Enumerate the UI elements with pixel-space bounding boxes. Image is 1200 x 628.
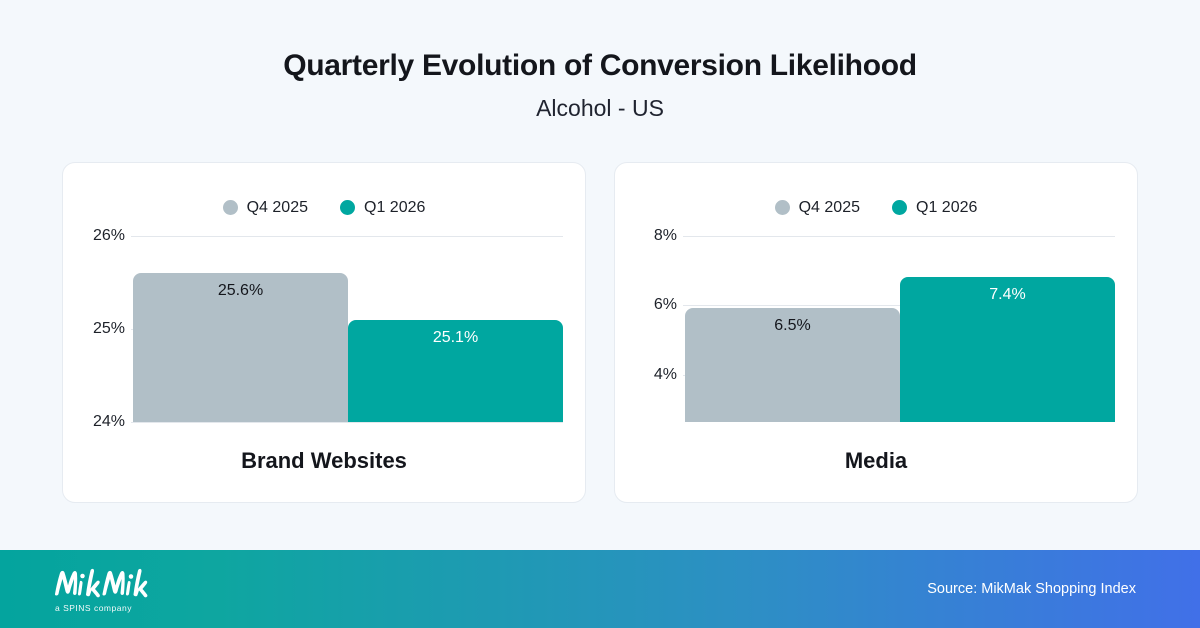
chart-card-brand-websites: Q4 2025 Q1 2026 26% 25%: [62, 162, 586, 503]
plot-area-media: 8% 6% 4% 6.5%: [637, 236, 1115, 422]
bar-slot-q1-2026: 25.1%: [348, 236, 563, 422]
logo-tagline: a SPINS company: [55, 603, 132, 613]
mikmak-wordmark-icon: [52, 566, 160, 602]
bar-slot-q4-2025: 25.6%: [133, 236, 348, 422]
legend-item-q1-2026[interactable]: Q1 2026: [340, 199, 425, 217]
bar-q4-2025[interactable]: 6.5%: [685, 308, 900, 422]
legend-dot-icon: [340, 200, 355, 215]
bar-slot-q1-2026: 7.4%: [900, 236, 1115, 422]
legend-dot-icon: [223, 200, 238, 215]
bar-q1-2026[interactable]: 25.1%: [348, 320, 563, 422]
legend-dot-icon: [775, 200, 790, 215]
legend-right: Q4 2025 Q1 2026: [615, 198, 1137, 218]
y-tick-label: 24%: [85, 412, 125, 432]
chart-card-media: Q4 2025 Q1 2026 8% 6%: [614, 162, 1138, 503]
bar-value-label: 25.6%: [133, 281, 348, 301]
source-label: Source: MikMak Shopping Index: [927, 581, 1136, 597]
bars-media: 6.5% 7.4%: [685, 236, 1115, 422]
chart-cards-row: Q4 2025 Q1 2026 26% 25%: [0, 123, 1200, 503]
legend-item-q4-2025[interactable]: Q4 2025: [223, 199, 308, 217]
y-tick-label: 6%: [637, 295, 677, 315]
legend-label: Q4 2025: [247, 199, 308, 217]
page-subtitle: Alcohol - US: [0, 95, 1200, 123]
infographic-page: Quarterly Evolution of Conversion Likeli…: [0, 0, 1200, 628]
y-tick-label: 25%: [85, 319, 125, 339]
plot-area-brand-websites: 26% 25% 24% 25.6%: [85, 236, 563, 422]
footer-bar: a SPINS company Source: MikMak Shopping …: [0, 550, 1200, 628]
legend-item-q1-2026[interactable]: Q1 2026: [892, 199, 977, 217]
bar-value-label: 6.5%: [685, 316, 900, 336]
y-tick-label: 8%: [637, 226, 677, 246]
legend-dot-icon: [892, 200, 907, 215]
bars-brand-websites: 25.6% 25.1%: [133, 236, 563, 422]
bar-q4-2025[interactable]: 25.6%: [133, 273, 348, 422]
legend-label: Q4 2025: [799, 199, 860, 217]
legend-label: Q1 2026: [364, 199, 425, 217]
legend-item-q4-2025[interactable]: Q4 2025: [775, 199, 860, 217]
header: Quarterly Evolution of Conversion Likeli…: [0, 0, 1200, 123]
chart-caption-brand-websites: Brand Websites: [63, 448, 585, 474]
page-title: Quarterly Evolution of Conversion Likeli…: [0, 48, 1200, 84]
bar-value-label: 25.1%: [348, 328, 563, 348]
bar-value-label: 7.4%: [900, 285, 1115, 305]
bar-q1-2026[interactable]: 7.4%: [900, 277, 1115, 422]
gridline: [131, 422, 563, 423]
y-tick-label: 4%: [637, 365, 677, 385]
chart-caption-media: Media: [615, 448, 1137, 474]
mikmak-logo: a SPINS company: [52, 566, 160, 613]
bar-slot-q4-2025: 6.5%: [685, 236, 900, 422]
legend-left: Q4 2025 Q1 2026: [63, 198, 585, 218]
legend-label: Q1 2026: [916, 199, 977, 217]
y-tick-label: 26%: [85, 226, 125, 246]
